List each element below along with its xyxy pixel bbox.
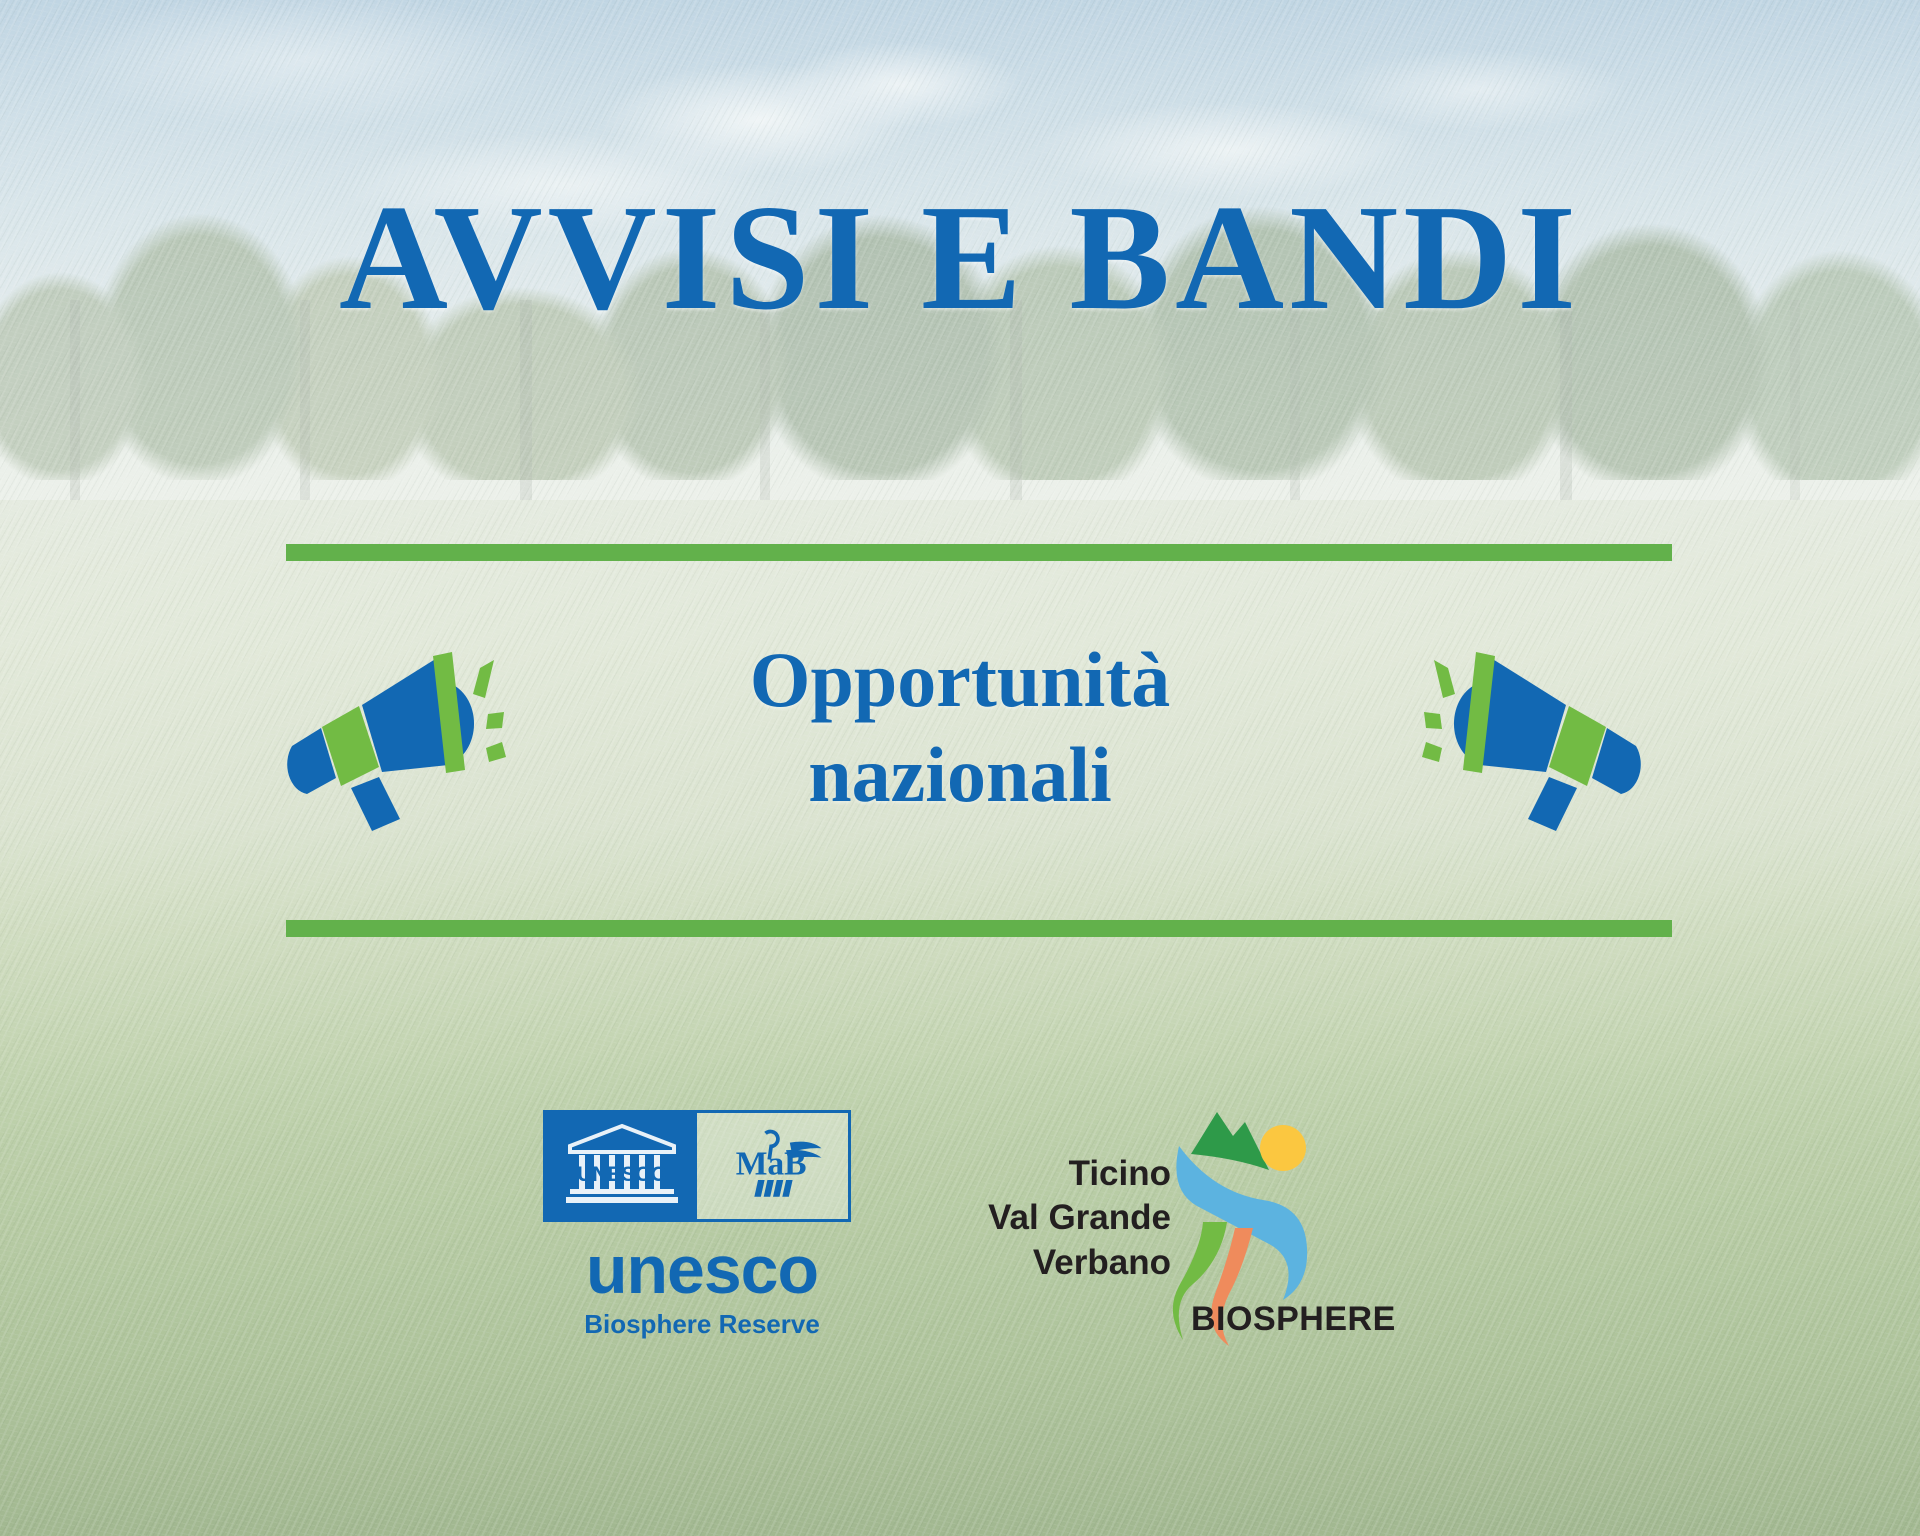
unesco-emblem-box: UNESCO MaB bbox=[543, 1110, 851, 1222]
page-title: AVVISI E BANDI bbox=[0, 182, 1920, 333]
ticino-biosphere-label: BIOSPHERE bbox=[1191, 1300, 1396, 1339]
ticino-name-block: Ticino Val Grande Verbano bbox=[953, 1152, 1171, 1285]
page-subtitle-line-1: Opportunità bbox=[560, 632, 1360, 727]
divider-rule-bottom bbox=[286, 920, 1672, 937]
ticino-line-3: Verbano bbox=[953, 1241, 1171, 1285]
megaphone-icon-right bbox=[1400, 636, 1670, 846]
logo-row: UNESCO MaB bbox=[0, 1110, 1920, 1360]
unesco-temple-icon: UNESCO bbox=[546, 1113, 697, 1219]
megaphone-icon-left bbox=[258, 636, 528, 846]
ticino-val-grande-verbano-logo: Ticino Val Grande Verbano bbox=[953, 1110, 1383, 1360]
ticino-line-1: Ticino bbox=[953, 1152, 1171, 1196]
unesco-mab-label: MaB bbox=[735, 1145, 806, 1182]
unesco-temple-label: UNESCO bbox=[577, 1163, 667, 1186]
ticino-line-2: Val Grande bbox=[953, 1196, 1171, 1240]
unesco-mab-icon: MaB bbox=[697, 1113, 848, 1219]
unesco-logo: UNESCO MaB bbox=[537, 1110, 867, 1340]
poster-canvas: AVVISI E BANDI bbox=[0, 0, 1920, 1536]
unesco-wordmark: unesco bbox=[537, 1238, 867, 1303]
page-subtitle: Opportunità nazionali bbox=[560, 632, 1360, 822]
divider-rule-top bbox=[286, 544, 1672, 561]
unesco-tagline: Biosphere Reserve bbox=[537, 1309, 867, 1340]
page-subtitle-line-2: nazionali bbox=[560, 727, 1360, 822]
